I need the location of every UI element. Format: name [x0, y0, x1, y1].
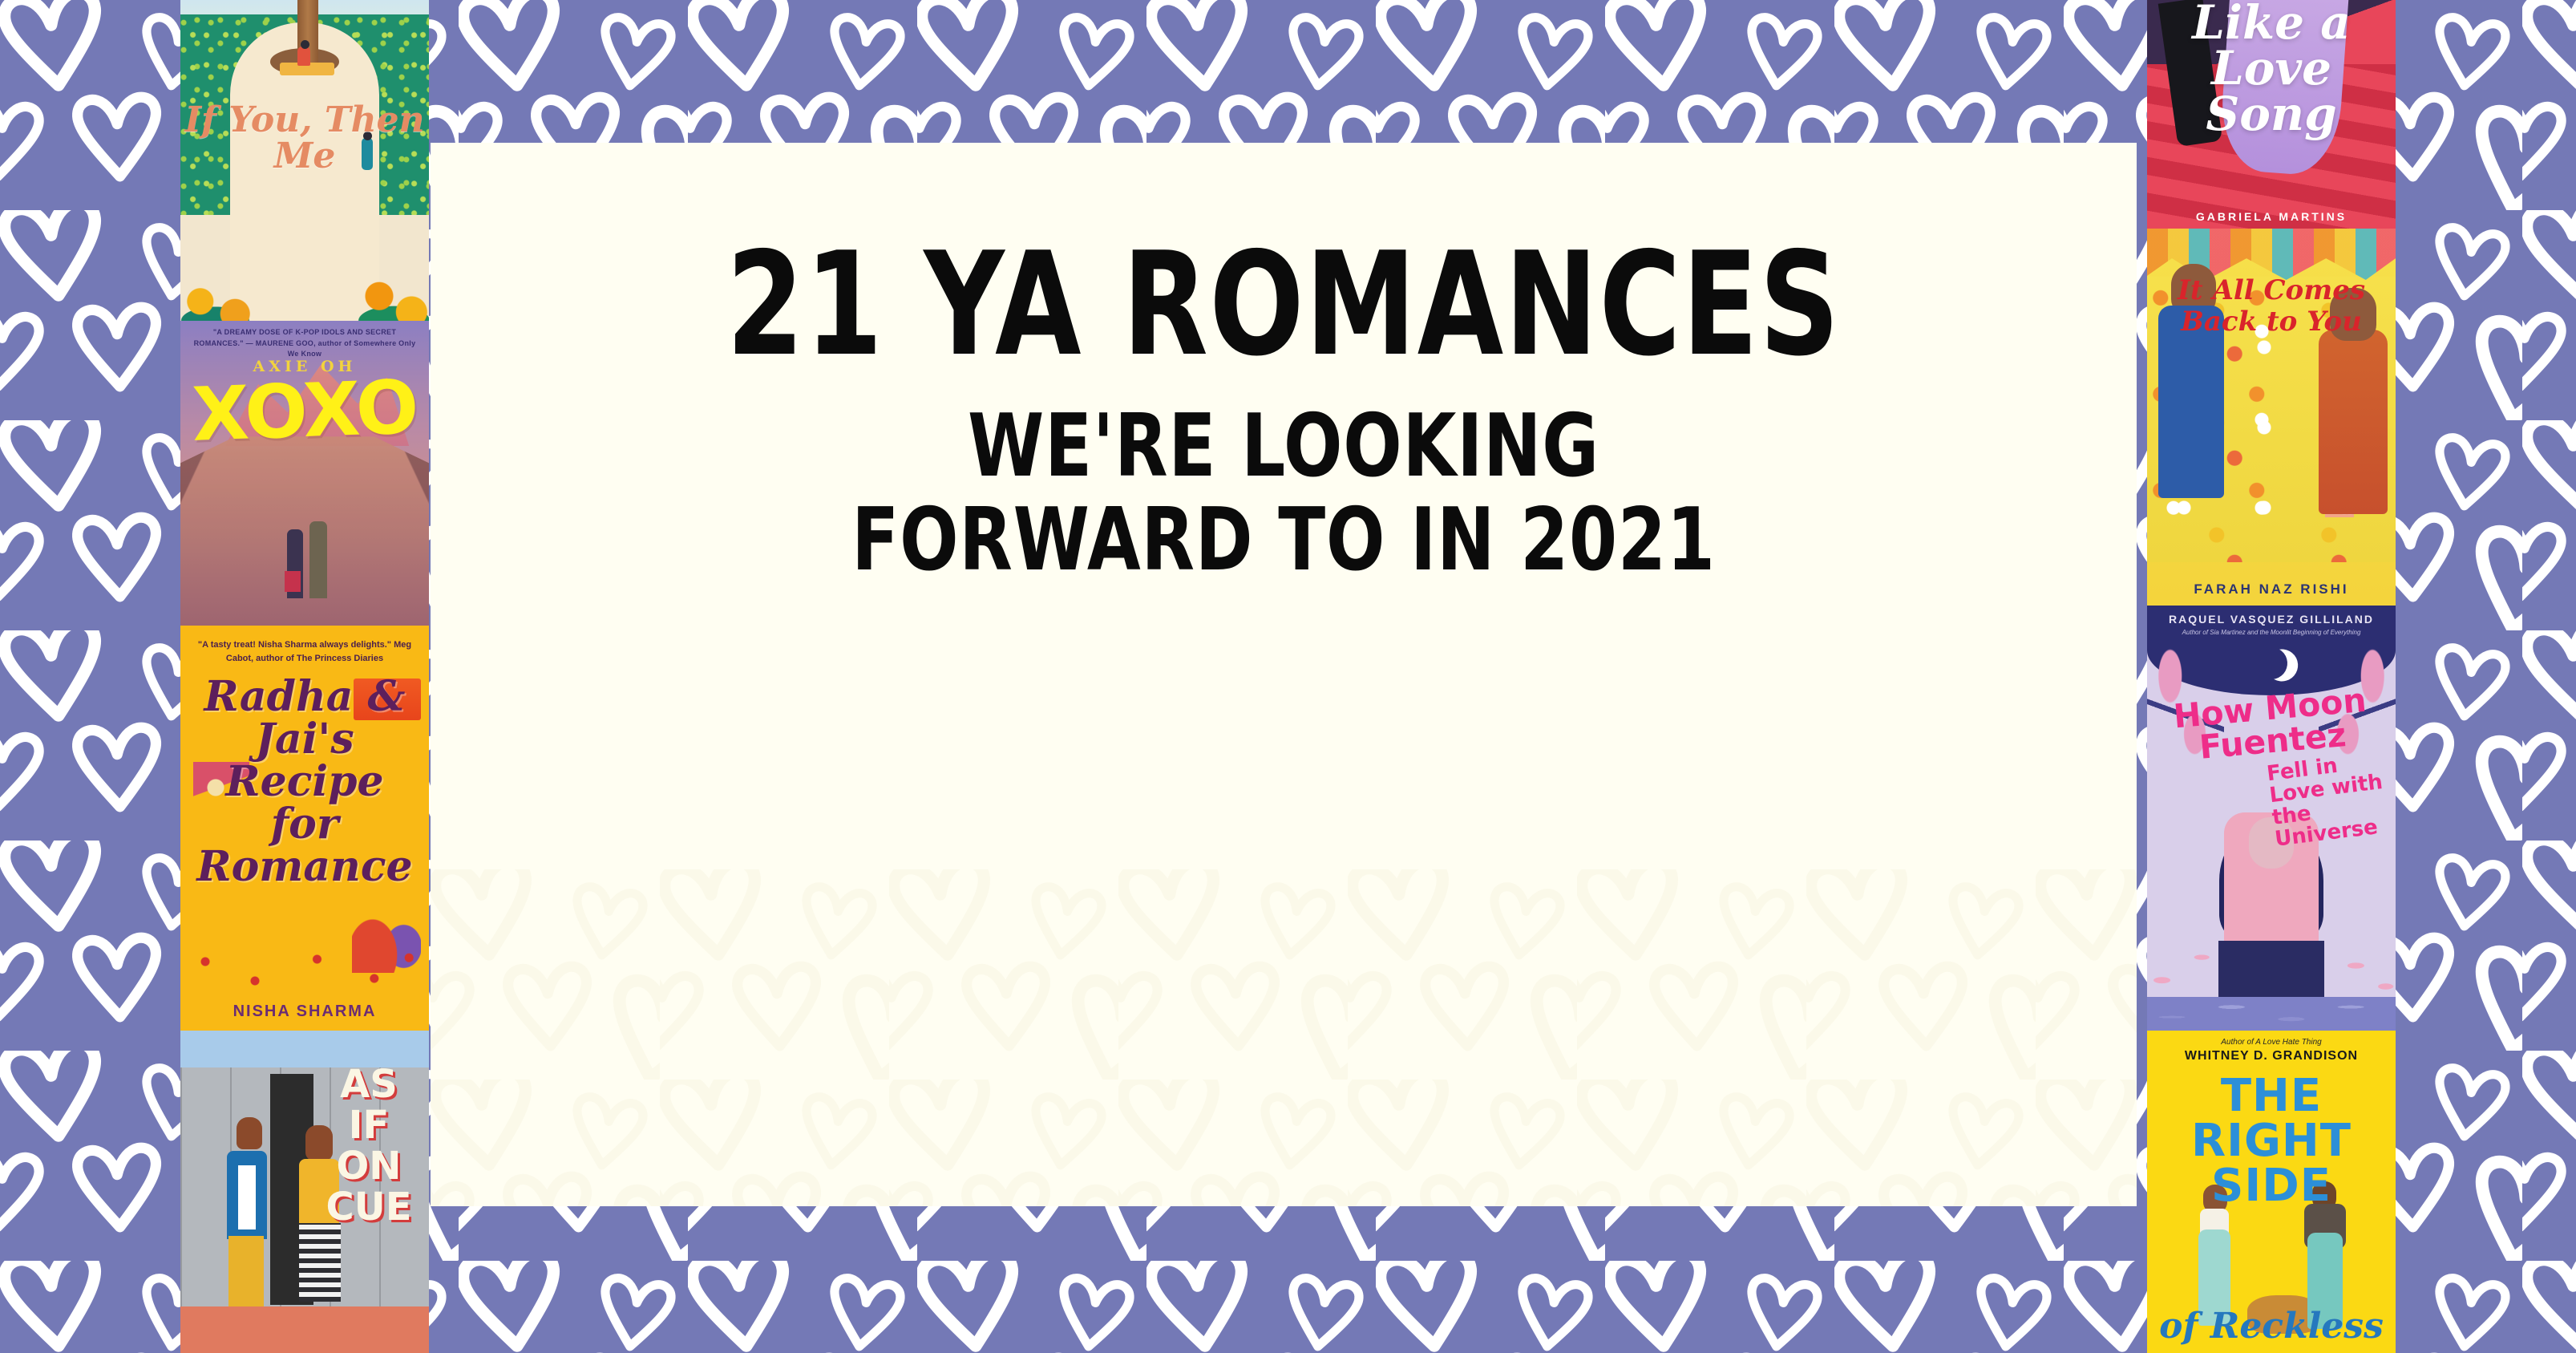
- cover-author: WHITNEY D. GRANDISON: [2147, 1050, 2396, 1063]
- heart-watermark: [431, 869, 2137, 1206]
- headline-subtitle-line-1: WE'RE LOOKING: [601, 400, 1966, 494]
- cover-blurb: Author of Sia Martinez and the Moonlit B…: [2147, 630, 2396, 636]
- cover-title: XOXO: [180, 370, 429, 454]
- headline-panel: 21 YA ROMANCES WE'RE LOOKING FORWARD TO …: [431, 143, 2137, 1206]
- cover-title: If You, Then Me: [180, 103, 429, 175]
- book-cover-like-a-love-song[interactable]: Like a Love Song GABRIELA MARTINS: [2147, 0, 2396, 229]
- cover-title: It All Comes Back to You: [2147, 275, 2396, 338]
- book-cover-if-you-then-me[interactable]: If You, Then Me: [180, 0, 429, 321]
- cover-blurb: "A tasty treat! Nisha Sharma always deli…: [180, 638, 429, 666]
- graphic-canvas: If You, Then Me "A DREAMY DOSE OF K-POP …: [0, 0, 2576, 1353]
- book-cover-radha-and-jais-recipe-for-romance[interactable]: "A tasty treat! Nisha Sharma always deli…: [180, 626, 429, 1031]
- cover-blurb: "A DREAMY DOSE OF K-POP IDOLS AND SECRET…: [180, 327, 429, 360]
- book-cover-as-if-on-cue[interactable]: AS IF ON CUE: [180, 1031, 429, 1353]
- book-cover-the-right-side-of-reckless[interactable]: Author of A Love Hate Thing WHITNEY D. G…: [2147, 997, 2396, 1353]
- cover-title: AS IF ON CUE: [317, 1064, 421, 1228]
- headline-main-title: 21 YA ROMANCES: [618, 237, 1949, 371]
- headline-block: 21 YA ROMANCES WE'RE LOOKING FORWARD TO …: [431, 237, 2137, 588]
- headline-subtitle-line-2: FORWARD TO IN 2021: [601, 494, 1966, 588]
- cover-author: NISHA SHARMA: [180, 1003, 429, 1019]
- left-book-cover-strip: If You, Then Me "A DREAMY DOSE OF K-POP …: [180, 0, 429, 1353]
- cover-author: RAQUEL VASQUEZ GILLILAND: [2147, 614, 2396, 625]
- right-book-cover-strip: Like a Love Song GABRIELA MARTINS It All…: [2147, 0, 2396, 1353]
- cover-title-line-2: Fell in Love with the Universe: [2266, 749, 2396, 851]
- book-cover-xoxo[interactable]: "A DREAMY DOSE OF K-POP IDOLS AND SECRET…: [180, 321, 429, 626]
- cover-title: Like a Love Song: [2147, 0, 2396, 136]
- cover-author: GABRIELA MARTINS: [2147, 211, 2396, 222]
- cover-title-line-2: of Reckless: [2147, 1306, 2396, 1347]
- book-cover-how-moon-fuentez-fell-in-love-with-the-universe[interactable]: RAQUEL VASQUEZ GILLILAND Author of Sia M…: [2147, 606, 2396, 997]
- cover-title: Radha & Jai's Recipe for Romance: [180, 675, 429, 888]
- cover-author: FARAH NAZ RISHI: [2147, 582, 2396, 596]
- book-cover-it-all-comes-back-to-you[interactable]: It All Comes Back to You FARAH NAZ RISHI: [2147, 229, 2396, 606]
- cover-blurb: Author of A Love Hate Thing: [2147, 1039, 2396, 1047]
- cover-title: THE RIGHT SIDE: [2147, 1074, 2396, 1209]
- headline-subtitle: WE'RE LOOKING FORWARD TO IN 2021: [601, 400, 1966, 587]
